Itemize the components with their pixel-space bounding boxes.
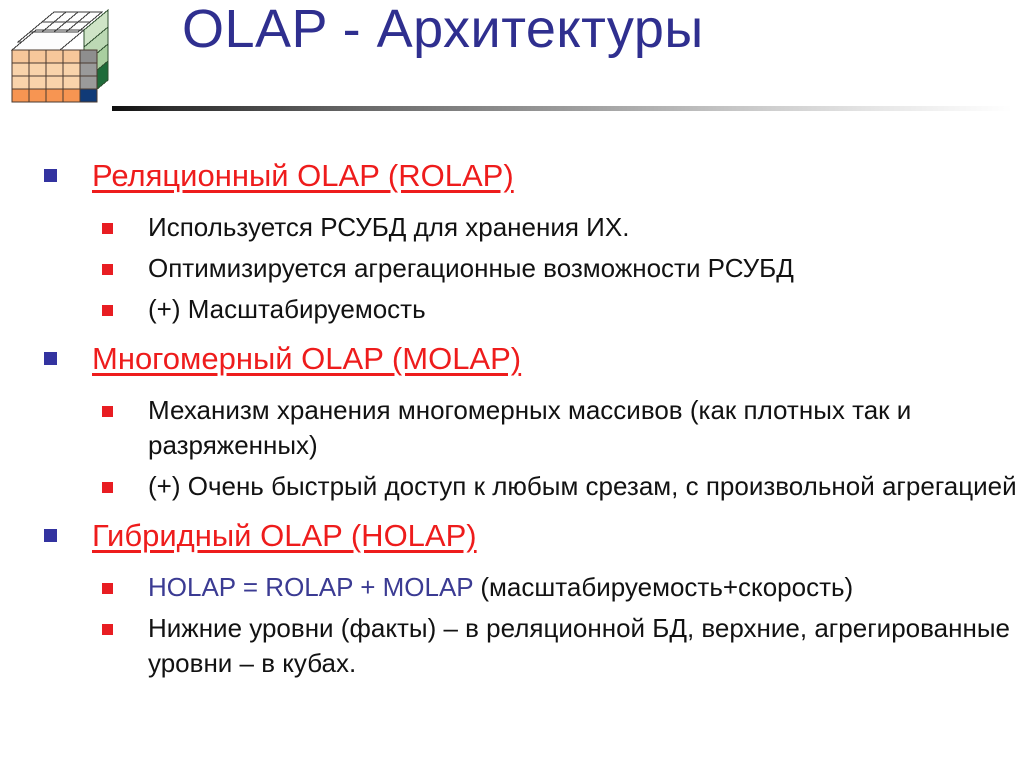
page-title: OLAP - Архитектуры <box>182 0 704 60</box>
list-item: Механизм хранения многомерных массивов (… <box>0 393 1024 463</box>
list-item: (+) Очень быстрый доступ к любым срезам,… <box>0 469 1024 504</box>
list-item: Оптимизируется агрегационные возможности… <box>0 251 1024 286</box>
square-bullet-icon <box>102 223 113 234</box>
spacer <box>0 327 1024 339</box>
spacer <box>0 504 1024 516</box>
list-item: Нижние уровни (факты) – в реляционной БД… <box>0 611 1024 681</box>
spacer <box>0 556 1024 570</box>
square-bullet-icon <box>102 624 113 635</box>
list-item-label: Оптимизируется агрегационные возможности… <box>148 251 1024 286</box>
square-bullet-icon <box>102 406 113 417</box>
section-heading-molap: Многомерный OLAP (MOLAP) <box>0 339 1024 379</box>
data-cube-icon <box>6 4 124 112</box>
square-bullet-icon <box>44 169 57 182</box>
square-bullet-icon <box>102 264 113 275</box>
list-item-label: Механизм хранения многомерных массивов (… <box>148 393 1024 463</box>
spacer <box>0 196 1024 210</box>
formula-label: HOLAP = ROLAP + MOLAP <box>148 572 473 602</box>
spacer <box>0 379 1024 393</box>
list-item-label: HOLAP = ROLAP + MOLAP (масштабируемость+… <box>148 570 1024 605</box>
list-item: Используется РСУБД для хранения ИХ. <box>0 210 1024 245</box>
square-bullet-icon <box>102 305 113 316</box>
list-item: (+) Масштабируемость <box>0 292 1024 327</box>
list-item-label: (+) Очень быстрый доступ к любым срезам,… <box>148 469 1024 504</box>
title-divider <box>112 106 1012 111</box>
heading-label: Гибридный OLAP (HOLAP) <box>92 518 477 553</box>
square-bullet-icon <box>102 482 113 493</box>
square-bullet-icon <box>102 583 113 594</box>
square-bullet-icon <box>44 352 57 365</box>
list-item-label: Нижние уровни (факты) – в реляционной БД… <box>148 611 1024 681</box>
list-item-label: (+) Масштабируемость <box>148 292 1024 327</box>
heading-label: Реляционный OLAP (ROLAP) <box>92 158 514 193</box>
list-item-label: Используется РСУБД для хранения ИХ. <box>148 210 1024 245</box>
list-item-suffix: (масштабируемость+скорость) <box>473 572 853 602</box>
section-heading-holap: Гибридный OLAP (HOLAP) <box>0 516 1024 556</box>
list-item: HOLAP = ROLAP + MOLAP (масштабируемость+… <box>0 570 1024 605</box>
slide-header: OLAP - Архитектуры <box>0 0 1024 122</box>
slide-content: Реляционный OLAP (ROLAP) Используется РС… <box>0 122 1024 681</box>
section-heading-rolap: Реляционный OLAP (ROLAP) <box>0 156 1024 196</box>
heading-label: Многомерный OLAP (MOLAP) <box>92 341 521 376</box>
spacer <box>0 122 1024 156</box>
square-bullet-icon <box>44 529 57 542</box>
